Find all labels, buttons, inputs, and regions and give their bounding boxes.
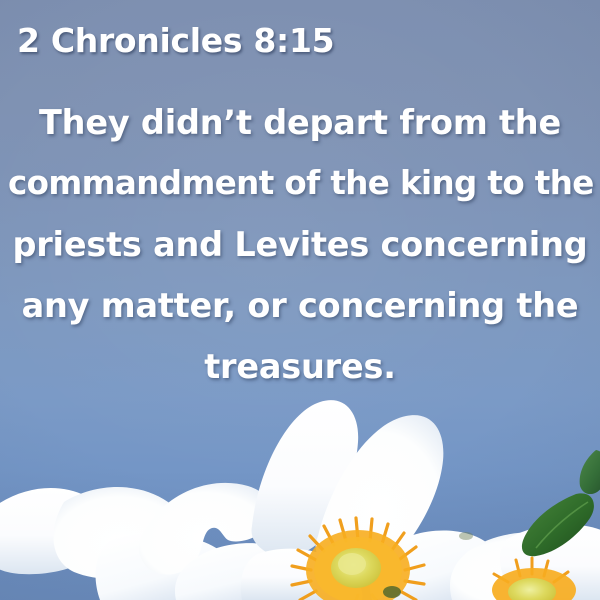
verse-line-1: They didn’t depart from the (8, 92, 592, 153)
verse-line-2: commandment of the king to the (8, 153, 592, 214)
verse-line-4: any matter, or concerning the (8, 275, 592, 336)
scripture-reference: 2 Chronicles 8:15 (17, 21, 334, 61)
flower-foreground (0, 390, 600, 600)
leaf-far-right (580, 450, 600, 494)
verse-image-canvas: 2 Chronicles 8:15 They didn’t depart fro… (0, 0, 600, 600)
verse-line-5: treasures. (8, 336, 592, 397)
verse-text: They didn’t depart from the commandment … (8, 92, 592, 397)
verse-line-3: priests and Levites concerning (8, 214, 592, 275)
